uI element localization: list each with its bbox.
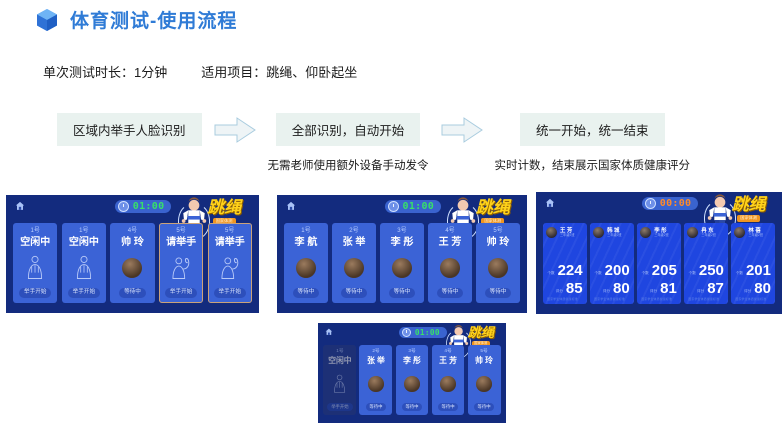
sport-logo-text: 跳绳 [732,196,766,213]
card-dim-overlay [323,345,356,415]
student-card-number: 3号 [408,349,415,354]
clock-icon [402,328,411,337]
student-card[interactable]: 5号帅 玲等待中 [468,345,501,415]
student-photo [296,258,316,278]
student-card-status[interactable]: 举手开始 [68,288,100,298]
student-card-status[interactable]: 举手开始 [214,288,246,298]
result-card-grid: 王 芳三年级2班个数224评分85国家学生体质健康标准韩 城三年级2班个数200… [543,223,775,304]
result-standard-label: 国家学生体质健康标准 [547,297,583,301]
result-card-body: 个数205评分81国家学生体质健康标准 [637,263,681,305]
student-card-name: 李 彤 [391,238,414,248]
countdown-timer: 00:00 [642,197,699,210]
student-card-status[interactable]: 等待中 [341,288,368,298]
home-icon[interactable] [286,201,296,211]
student-card[interactable]: 2号张 举等待中 [359,345,392,415]
student-card-number: 4号 [444,349,451,354]
student-card[interactable]: 5号帅 玲等待中 [476,223,520,303]
count-value: 205 [652,263,677,278]
person-raise-hand-icon [219,255,241,280]
score-value: 87 [707,281,724,296]
page-header: 体育测试-使用流程 [34,6,237,33]
student-card-status[interactable]: 等待中 [474,403,495,411]
device-screen-left: 01:00跳绳国家体测1号空闲中举手开始1号空闲中举手开始4号帅 玲等待中5号请… [6,195,259,313]
device-screen-middle: 01:00跳绳国家体测1号李 航等待中2号张 举等待中3号李 彤等待中4号王 芳… [277,195,527,313]
result-card-body: 个数201评分80国家学生体质健康标准 [731,263,775,305]
student-card[interactable]: 5号请举手举手开始 [208,223,252,303]
result-standard-label: 国家学生体质健康标准 [594,297,630,301]
clock-icon [118,201,129,212]
student-photo [593,227,604,238]
student-photo [640,227,651,238]
score-value: 81 [660,281,677,296]
countdown-timer: 01:00 [399,327,447,338]
result-card-header: 冉 东三年级2班 [684,223,728,238]
student-card-name: 帅 玲 [487,238,510,248]
student-card-grid: 1号李 航等待中2号张 举等待中3号李 彤等待中4号王 芳等待中5号帅 玲等待中 [284,223,520,303]
student-photo [546,227,557,238]
student-card-status[interactable]: 等待中 [438,403,459,411]
result-student-class: 三年级2班 [607,234,622,238]
device-screen-bottom: 01:00跳绳国家体测1号空闲中举手开始2号张 举等待中3号李 彤等待中4号王 … [318,323,506,423]
count-value: 224 [558,263,583,278]
result-card-header: 王 芳三年级2班 [543,223,587,238]
result-card-body: 个数200评分80国家学生体质健康标准 [590,263,634,305]
count-value: 200 [605,263,630,278]
person-raise-hand-icon [170,255,192,280]
student-card-number: 3号 [397,228,406,234]
student-card-status[interactable]: 等待中 [389,288,416,298]
student-card[interactable]: 1号空闲中举手开始 [323,345,356,415]
student-card-name: 请举手 [215,238,245,248]
result-card[interactable]: 王 芳三年级2班个数224评分85国家学生体质健康标准 [543,223,587,304]
sport-logo-text: 跳绳 [467,326,494,339]
student-photo [687,227,698,238]
sport-logo: 跳绳国家体测 [732,196,766,222]
sport-logo: 跳绳国家体测 [476,199,510,225]
student-card-number: 5号 [225,228,234,234]
student-card[interactable]: 3号李 彤等待中 [396,345,429,415]
flow-diagram: 区域内举手人脸识别 全部识别，自动开始 无需老师使用额外设备手动发令 统一开始，… [57,113,690,173]
timer-value: 01:00 [133,201,165,212]
result-standard-label: 国家学生体质健康标准 [641,297,677,301]
student-card[interactable]: 1号李 航等待中 [284,223,328,303]
timer-value: 01:00 [403,201,435,212]
student-card-status[interactable]: 等待中 [485,288,512,298]
sport-logo-text: 跳绳 [207,199,241,216]
timer-value: 01:00 [415,328,440,337]
student-card-number: 5号 [480,349,487,354]
student-card-number: 2号 [349,228,358,234]
student-photo [344,258,364,278]
score-label: 评分 [650,289,657,296]
student-card-status[interactable]: 等待中 [437,288,464,298]
sport-logo-badge: 国家体测 [737,215,760,222]
flow-step-1: 区域内举手人脸识别 [57,113,202,157]
score-value: 80 [754,281,771,296]
student-card-number: 1号 [31,228,40,234]
student-card-number: 1号 [79,228,88,234]
home-icon[interactable] [325,328,333,336]
score-value: 85 [566,281,583,296]
student-card-number: 5号 [176,228,185,234]
result-student-class: 三年级2班 [701,234,716,238]
flow-step-label: 统一开始，统一结束 [520,113,665,146]
student-card[interactable]: 4号王 芳等待中 [428,223,472,303]
count-label: 个数 [547,271,554,278]
person-idle-icon [73,255,95,280]
count-label: 个数 [642,271,649,278]
student-card-name: 张 举 [343,238,366,248]
device-screen-right: 00:00跳绳国家体测王 芳三年级2班个数224评分85国家学生体质健康标准韩 … [536,192,782,314]
student-card-status[interactable]: 举手开始 [165,288,197,298]
student-photo [440,376,456,392]
count-label: 个数 [736,271,743,278]
flow-step-3: 统一开始，统一结束 实时计数，结束展示国家体质健康评分 [495,113,691,173]
result-card[interactable]: 冉 东三年级2班个数250评分87国家学生体质健康标准 [684,223,728,304]
person-idle-icon [24,255,46,280]
student-card-name: 帅 玲 [121,238,144,248]
student-card-number: 5号 [493,228,502,234]
result-standard-label: 国家学生体质健康标准 [735,297,771,301]
countdown-timer: 01:00 [115,200,172,213]
student-card-name: 帅 玲 [475,357,493,365]
student-card[interactable]: 4号王 芳等待中 [432,345,465,415]
result-student-class: 三年级2班 [654,234,669,238]
flow-step-label: 区域内举手人脸识别 [57,113,202,146]
student-card[interactable]: 4号帅 玲等待中 [110,223,154,303]
student-photo [476,376,492,392]
student-photo [122,258,142,278]
student-card-grid: 1号空闲中举手开始1号空闲中举手开始4号帅 玲等待中5号请举手举手开始5号请举手… [13,223,252,303]
result-card[interactable]: 林 蓓三年级2班个数201评分80国家学生体质健康标准 [731,223,775,304]
student-card-status[interactable]: 等待中 [119,288,146,298]
flow-step-note: 无需老师使用额外设备手动发令 [268,157,429,173]
result-student-class: 三年级2班 [748,234,763,238]
score-value: 80 [613,281,630,296]
student-card-name: 李 航 [295,238,318,248]
student-card-name: 请举手 [166,238,196,248]
count-label: 个数 [689,271,696,278]
student-card-number: 4号 [445,228,454,234]
result-card-body: 个数250评分87国家学生体质健康标准 [684,263,728,305]
home-icon[interactable] [545,198,555,208]
score-label: 评分 [697,289,704,296]
clock-icon [645,198,656,209]
result-standard-label: 国家学生体质健康标准 [688,297,724,301]
student-card-status[interactable]: 举手开始 [19,288,51,298]
student-photo [392,258,412,278]
count-label: 个数 [594,271,601,278]
home-icon[interactable] [15,201,25,211]
clock-icon [388,201,399,212]
student-card[interactable]: 1号空闲中举手开始 [62,223,106,303]
student-card[interactable]: 1号空闲中举手开始 [13,223,57,303]
student-photo [404,376,420,392]
timer-value: 00:00 [660,198,692,209]
student-card-number: 4号 [128,228,137,234]
result-card[interactable]: 韩 城三年级2班个数200评分80国家学生体质健康标准 [590,223,634,304]
result-card-body: 个数224评分85国家学生体质健康标准 [543,263,587,305]
student-card-name: 王 芳 [439,238,462,248]
count-value: 250 [699,263,724,278]
student-card-name: 空闲中 [69,238,99,248]
student-card-number: 1号 [301,228,310,234]
student-card-name: 李 彤 [403,357,421,365]
student-photo [368,376,384,392]
result-card[interactable]: 李 彤三年级2班个数205评分81国家学生体质健康标准 [637,223,681,304]
arrow-right-icon [212,113,258,146]
student-card[interactable]: 3号李 彤等待中 [380,223,424,303]
student-card-status[interactable]: 等待中 [402,403,423,411]
score-label: 评分 [744,289,751,296]
sport-logo: 跳绳国家体测 [467,326,494,346]
student-card-name: 王 芳 [439,357,457,365]
score-label: 评分 [603,289,610,296]
count-value: 201 [746,263,771,278]
student-photo [440,258,460,278]
sport-logo-text: 跳绳 [476,199,510,216]
result-student-class: 三年级2班 [560,234,575,238]
page-title: 体育测试-使用流程 [70,6,237,33]
sport-logo: 跳绳国家体测 [207,199,241,225]
student-card-number: 2号 [372,349,379,354]
student-card-status[interactable]: 等待中 [293,288,320,298]
student-photo [734,227,745,238]
student-card-grid: 1号空闲中举手开始2号张 举等待中3号李 彤等待中4号王 芳等待中5号帅 玲等待… [323,345,500,415]
test-duration-text: 单次测试时长：1分钟 [43,62,167,81]
result-card-header: 林 蓓三年级2班 [731,223,775,238]
student-card-name: 张 举 [367,357,385,365]
flow-step-2: 全部识别，自动开始 无需老师使用额外设备手动发令 [268,113,429,173]
student-card-name: 空闲中 [20,238,50,248]
flow-step-label: 全部识别，自动开始 [276,113,421,146]
applicable-items-text: 适用项目：跳绳、仰卧起坐 [201,62,357,81]
student-card[interactable]: 5号请举手举手开始 [159,223,203,303]
student-photo [488,258,508,278]
result-card-header: 韩 城三年级2班 [590,223,634,238]
countdown-timer: 01:00 [385,200,442,213]
score-label: 评分 [556,289,563,296]
cube-icon [34,7,60,33]
student-card[interactable]: 2号张 举等待中 [332,223,376,303]
arrow-right-icon [439,113,485,146]
flow-step-note: 实时计数，结束展示国家体质健康评分 [495,157,691,173]
student-card-status[interactable]: 等待中 [366,403,387,411]
result-card-header: 李 彤三年级2班 [637,223,681,238]
subtitle-row: 单次测试时长：1分钟 适用项目：跳绳、仰卧起坐 [43,62,357,81]
